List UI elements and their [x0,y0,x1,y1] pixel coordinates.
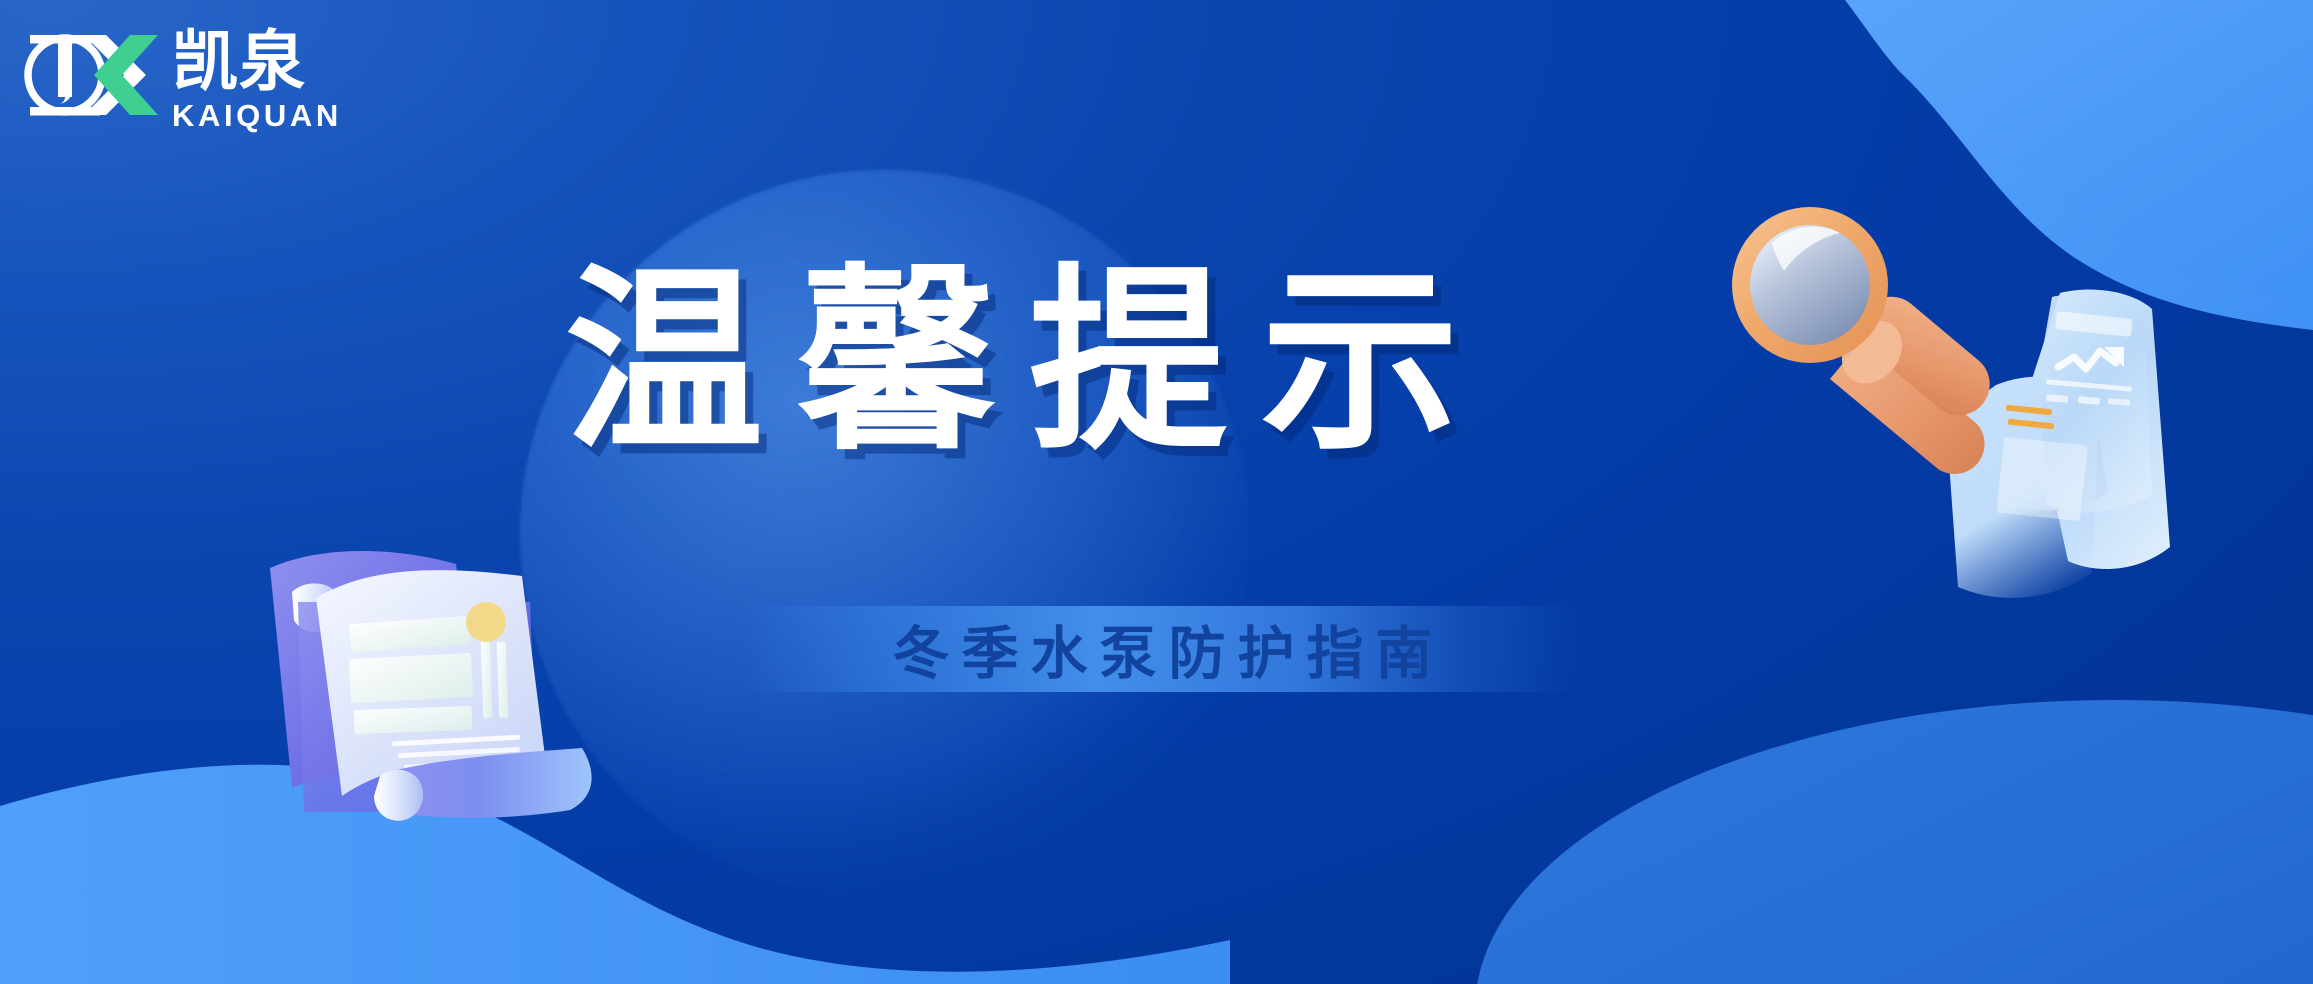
brand-chinese-name-icon: 凯泉 [172,22,320,98]
page-subtitle: 冬季水泵防护指南 [745,606,1580,692]
page-title: 温馨提示 [565,258,1745,466]
kaiquan-logo-mark-icon [18,24,158,129]
brand-english-name: KAIQUAN [172,100,342,131]
magnifying-glass-icon [1700,175,2170,605]
rolled-document-icon [230,520,650,860]
brand-wordmark: 凯泉 KAIQUAN [172,22,342,131]
brand-logo[interactable]: 凯泉 KAIQUAN [18,22,342,131]
warm-reminder-banner: 凯泉 KAIQUAN 温馨提示 冬季水泵防护指南 [0,0,2313,984]
brand-chinese-name-text: 凯泉 [172,23,306,98]
bottom-right-circle-shape [1475,700,2313,984]
